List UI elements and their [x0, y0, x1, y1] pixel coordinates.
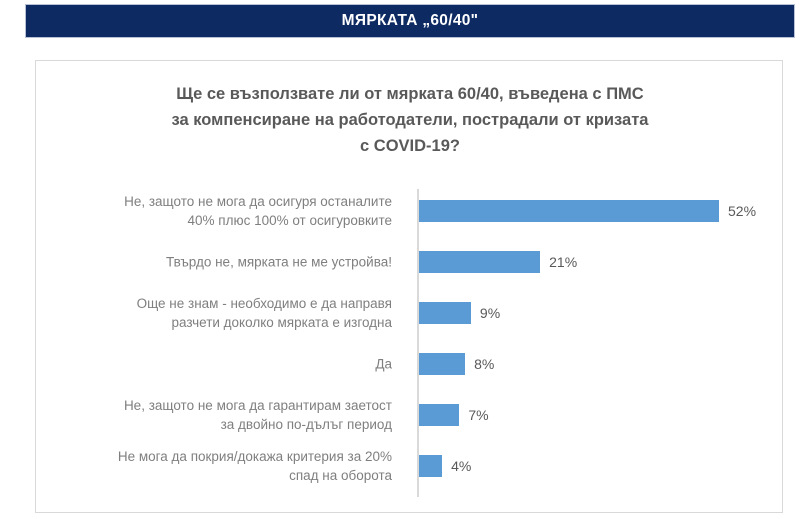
category-label: Не, защото не мога да гарантирам заетост… — [31, 396, 401, 434]
category-label: Твърдо не, мярката не ме устройва! — [31, 252, 401, 271]
bar-value-label: 8% — [474, 356, 494, 372]
bar-value-label: 21% — [549, 254, 577, 270]
category-label-line: Твърдо не, мярката не ме устройва! — [31, 252, 392, 271]
bar-group: 8% — [419, 353, 494, 375]
header-banner: МЯРКАТА „60/40" — [25, 4, 795, 38]
bar-value-label: 9% — [480, 305, 500, 321]
chart-title-line-1: Ще се възползвате ли от мярката 60/40, в… — [96, 81, 724, 107]
bar-row: Не, защото не мога да осигуря останалите… — [36, 185, 782, 236]
category-label-line: Не, защото не мога да гарантирам заетост — [31, 396, 392, 415]
bar-row: Не, защото не мога да гарантирам заетост… — [36, 389, 782, 440]
category-label: Не мога да покрия/докажа критерия за 20%… — [31, 447, 401, 485]
bar-value-label: 7% — [468, 407, 488, 423]
bar-group: 52% — [419, 200, 756, 222]
bar-group: 7% — [419, 404, 489, 426]
category-label: Още не знам - необходимо е да направя ра… — [31, 294, 401, 332]
category-label-line: Още не знам - необходимо е да направя — [31, 294, 392, 313]
bar-group: 21% — [419, 251, 577, 273]
bar-segment[interactable] — [419, 353, 465, 375]
bar-row: Да 8% — [36, 338, 782, 389]
category-label-line: спад на оборота — [31, 466, 392, 485]
chart-title-line-2: за компенсиране на работодатели, пострад… — [96, 107, 724, 133]
category-label-line: Да — [31, 354, 392, 373]
bar-row: Твърдо не, мярката не ме устройва! 21% — [36, 236, 782, 287]
bar-segment[interactable] — [419, 251, 540, 273]
bar-row: Още не знам - необходимо е да направя ра… — [36, 287, 782, 338]
chart-title-line-3: с COVID-19? — [96, 133, 724, 159]
chart-title: Ще се възползвате ли от мярката 60/40, в… — [96, 81, 724, 159]
category-label-line: Не, защото не мога да осигуря останалите — [31, 192, 392, 211]
bar-group: 9% — [419, 302, 500, 324]
bar-row: Не мога да покрия/докажа критерия за 20%… — [36, 440, 782, 491]
bar-value-label: 52% — [728, 203, 756, 219]
bar-segment[interactable] — [419, 302, 471, 324]
category-label: Да — [31, 354, 401, 373]
bar-segment[interactable] — [419, 404, 459, 426]
plot-area: Не, защото не мога да осигуря останалите… — [36, 185, 782, 507]
bar-segment[interactable] — [419, 200, 719, 222]
category-label-line: Не мога да покрия/докажа критерия за 20% — [31, 447, 392, 466]
category-label-line: за двойно по-дълъг период — [31, 415, 392, 434]
category-label-line: разчети доколко мярката е изгодна — [31, 313, 392, 332]
category-label: Не, защото не мога да осигуря останалите… — [31, 192, 401, 230]
bar-value-label: 4% — [451, 458, 471, 474]
chart-container: Ще се възползвате ли от мярката 60/40, в… — [35, 60, 783, 513]
banner-title: МЯРКАТА „60/40" — [342, 12, 479, 30]
bar-segment[interactable] — [419, 455, 442, 477]
bar-group: 4% — [419, 455, 471, 477]
category-label-line: 40% плюс 100% от осигуровките — [31, 211, 392, 230]
